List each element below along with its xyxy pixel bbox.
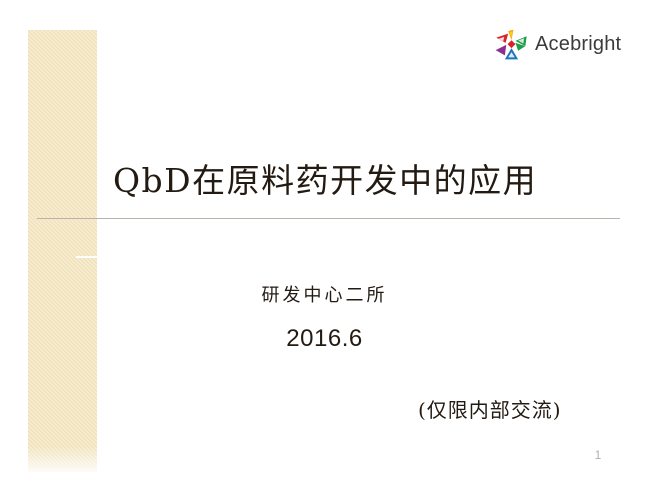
page-title: QbD在原料药开发中的应用 [113,162,533,200]
band-tick-mark [76,256,98,258]
band-bottom-fade [28,446,97,472]
title-divider [37,218,620,219]
page-number: 1 [586,448,610,462]
left-decorative-band [28,30,97,472]
brand-wordmark: Acebright [535,34,621,54]
acebright-pinwheel-logo-icon [495,29,528,60]
subtitle-date: 2016.6 [0,325,649,354]
slide-canvas: Acebright QbD在原料药开发中的应用 研发中心二所 2016.6 (仅… [0,0,649,502]
subtitle-organization: 研发中心二所 [0,285,649,307]
confidentiality-notice: (仅限内部交流) [418,398,562,422]
brand-logo: Acebright [495,26,621,62]
